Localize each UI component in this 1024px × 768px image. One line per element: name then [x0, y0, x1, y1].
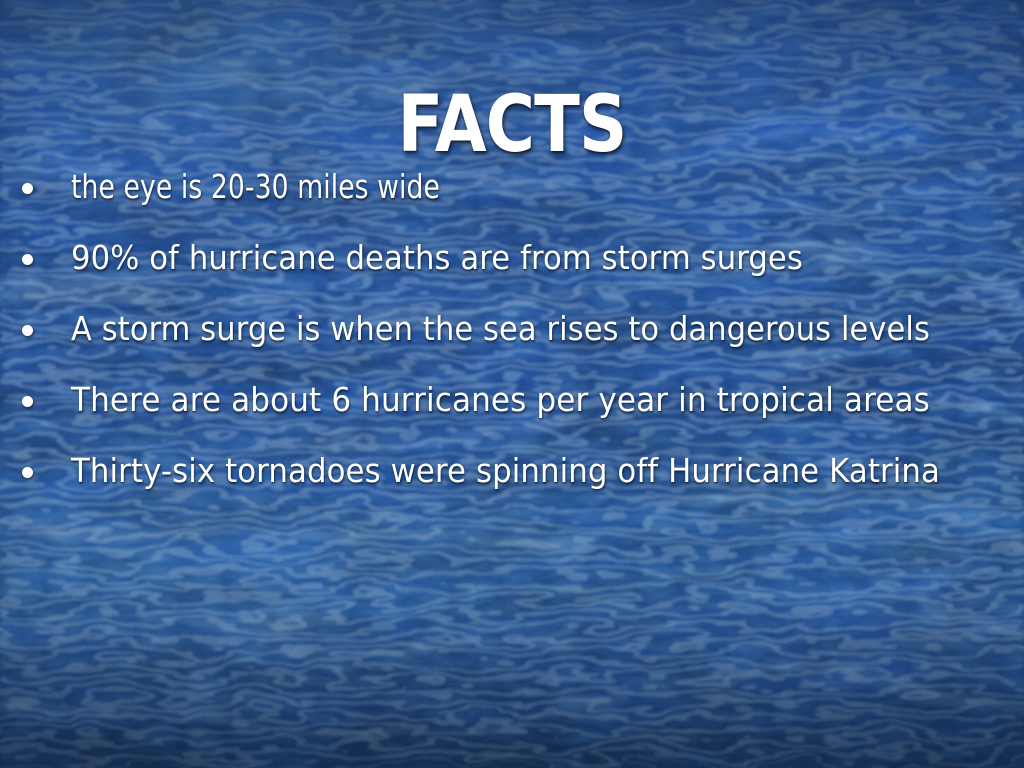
list-item: 90% of hurricane deaths are from storm s…: [0, 223, 1024, 294]
presentation-slide: FACTS the eye is 20-30 miles wide 90% of…: [0, 0, 1024, 768]
bullet-text: the eye is 20-30 miles wide: [71, 168, 440, 206]
list-item: Thirty-six tornadoes were spinning off H…: [0, 436, 1024, 507]
bullet-point-icon: [22, 325, 33, 336]
slide-content: FACTS the eye is 20-30 miles wide 90% of…: [0, 0, 1024, 768]
list-item: the eye is 20-30 miles wide: [0, 152, 1024, 223]
list-item: A storm surge is when the sea rises to d…: [0, 294, 1024, 365]
bullet-text: A storm surge is when the sea rises to d…: [71, 310, 930, 348]
bullet-point-icon: [22, 467, 33, 478]
bullet-point-icon: [22, 254, 33, 265]
bullet-point-icon: [22, 396, 33, 407]
bullet-point-icon: [22, 183, 33, 194]
facts-bullet-list: the eye is 20-30 miles wide 90% of hurri…: [0, 152, 1024, 507]
bullet-text: There are about 6 hurricanes per year in…: [71, 381, 930, 419]
bullet-text: 90% of hurricane deaths are from storm s…: [71, 239, 803, 277]
bullet-text: Thirty-six tornadoes were spinning off H…: [71, 452, 940, 490]
list-item: There are about 6 hurricanes per year in…: [0, 365, 1024, 436]
